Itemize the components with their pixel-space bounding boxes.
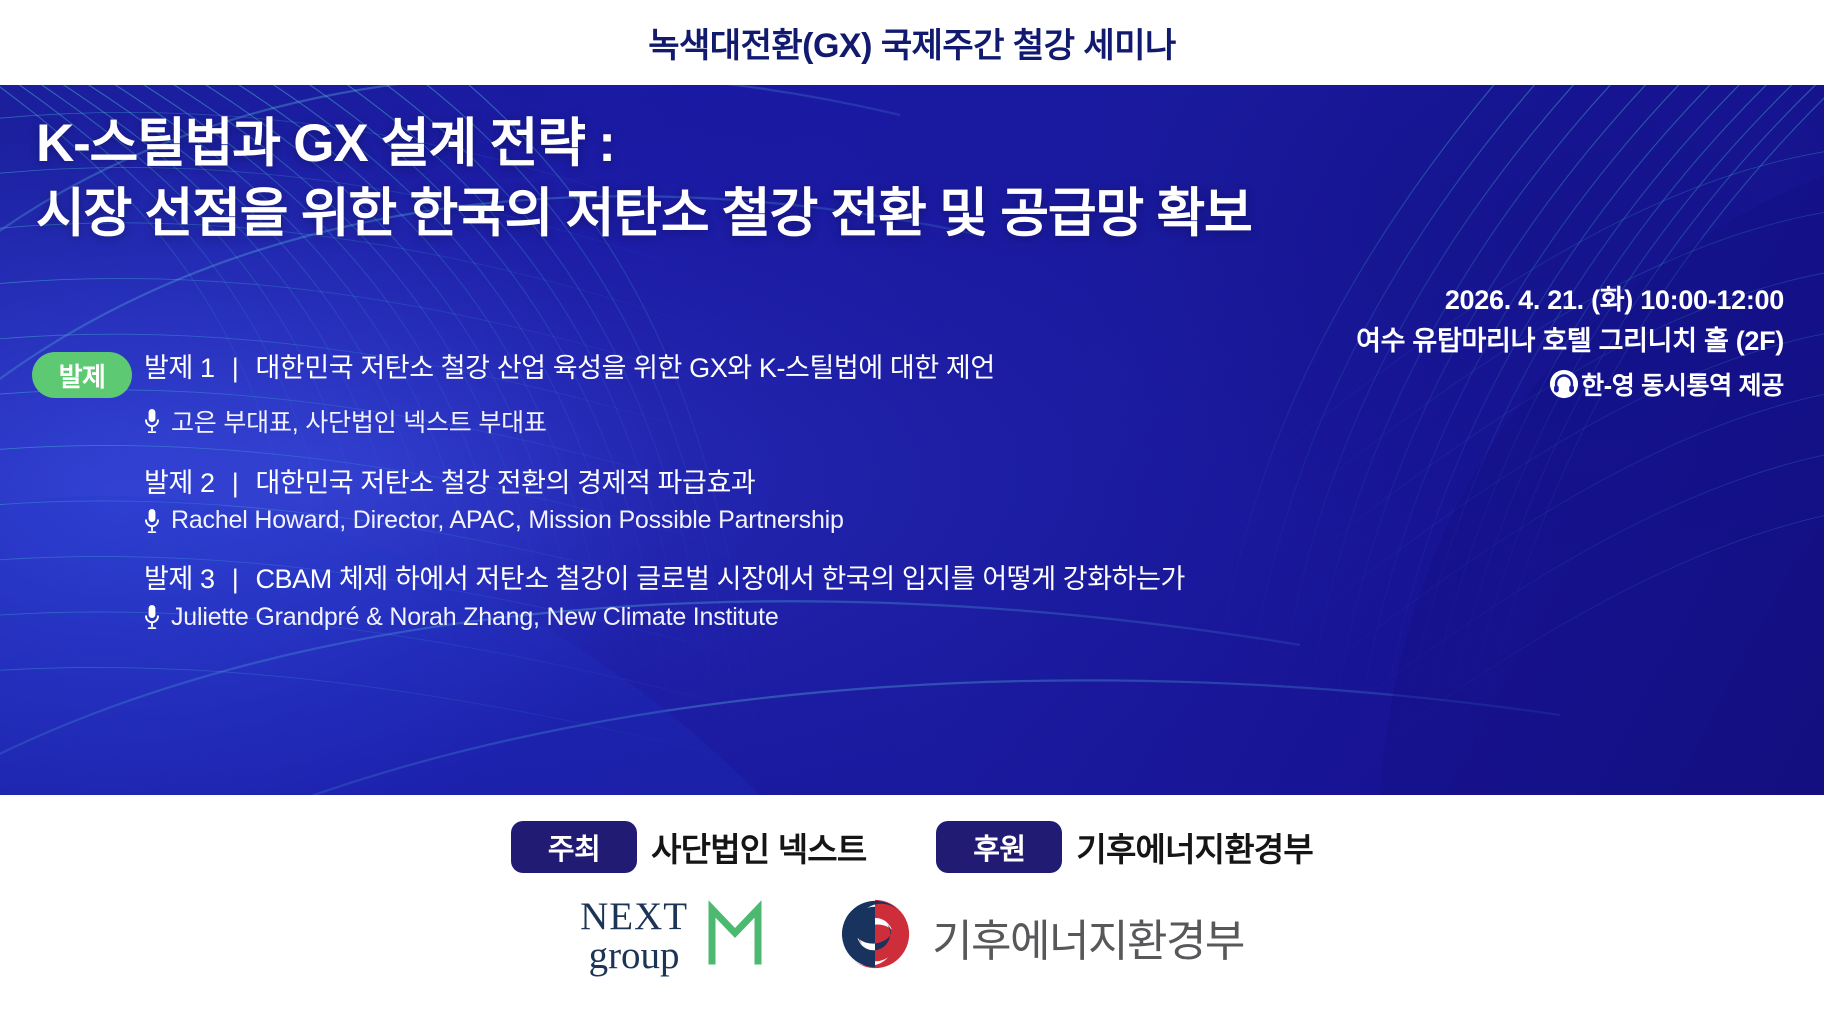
session-title-row: 발제 3 | CBAM 체제 하에서 저탄소 철강이 글로벌 시장에서 한국의 … [144, 561, 1332, 597]
microphone-icon [142, 507, 162, 535]
hero-title-block: K-스틸법과 GX 설계 전략 : 시장 선점을 위한 한국의 저탄소 철강 전… [36, 109, 1252, 250]
presentation-badge: 발제 [32, 352, 132, 398]
session-separator: | [222, 564, 249, 594]
organizer-row: 주최 사단법인 넥스트 후원 기후에너지환경부 [0, 821, 1824, 873]
next-wordmark: NEXT group [580, 898, 688, 974]
session-number: 발제 1 [144, 353, 215, 383]
speaker-name: Rachel Howard, Director, APAC, Mission P… [171, 506, 844, 535]
next-group-logo: NEXT group [580, 898, 766, 974]
sponsor-name: 기후에너지환경부 [1076, 823, 1312, 871]
session-badge-column [32, 561, 144, 563]
host-badge: 주최 [511, 821, 637, 873]
session-title: 대한민국 저탄소 철강 전환의 경제적 파급효과 [255, 468, 755, 498]
headphone-icon [1549, 369, 1579, 399]
session-speaker-row: 고은 부대표, 사단법인 넥스트 부대표 [142, 403, 1332, 439]
session-title-row: 발제 2 | 대한민국 저탄소 철강 전환의 경제적 파급효과 [144, 465, 1332, 501]
session-title: 대한민국 저탄소 철강 산업 육성을 위한 GX와 K-스틸법에 대한 제언 [255, 353, 994, 383]
hero-title-line-1: K-스틸법과 GX 설계 전략 : [36, 109, 1252, 179]
session-badge-column [32, 465, 144, 467]
session-body: 발제 3 | CBAM 체제 하에서 저탄소 철강이 글로벌 시장에서 한국의 … [144, 561, 1332, 597]
session-title: CBAM 체제 하에서 저탄소 철강이 글로벌 시장에서 한국의 입지를 어떻게… [255, 564, 1185, 594]
interpretation-note: 한-영 동시통역 제공 [1356, 366, 1784, 402]
seminar-series-title: 녹색대전환(GX) 국제주간 철강 세미나 [648, 18, 1176, 67]
session-number: 발제 3 [144, 564, 215, 594]
next-wordmark-line-1: NEXT [580, 898, 688, 936]
session-item: 발제 3 | CBAM 체제 하에서 저탄소 철강이 글로벌 시장에서 한국의 … [32, 561, 1332, 597]
government-ministry-name: 기후에너지환경부 [932, 905, 1244, 969]
speaker-name: 고은 부대표, 사단법인 넥스트 부대표 [171, 403, 547, 439]
government-logo: 기후에너지환경부 [836, 895, 1244, 978]
host-name: 사단법인 넥스트 [651, 823, 866, 871]
korea-government-taegeuk-emblem-icon [836, 895, 914, 978]
session-item: 발제 발제 1 | 대한민국 저탄소 철강 산업 육성을 위한 GX와 K-스틸… [32, 350, 1332, 398]
speaker-name: Juliette Grandpré & Norah Zhang, New Cli… [171, 603, 779, 632]
spacer [32, 535, 1332, 561]
microphone-icon [142, 603, 162, 631]
next-arrow-mark-icon [704, 899, 766, 974]
session-separator: | [222, 353, 249, 383]
session-list: 발제 발제 1 | 대한민국 저탄소 철강 산업 육성을 위한 GX와 K-스틸… [32, 350, 1332, 632]
session-number: 발제 2 [144, 468, 215, 498]
sponsor-group: 후원 기후에너지환경부 [936, 821, 1312, 873]
session-speaker-row: Rachel Howard, Director, APAC, Mission P… [142, 506, 1332, 535]
hero-title-line-2: 시장 선점을 위한 한국의 저탄소 철강 전환 및 공급망 확보 [36, 179, 1252, 249]
session-speaker-row: Juliette Grandpré & Norah Zhang, New Cli… [142, 603, 1332, 632]
microphone-icon [142, 407, 162, 435]
interpretation-label: 한-영 동시통역 제공 [1581, 366, 1784, 402]
next-wordmark-line-2: group [580, 937, 688, 975]
session-badge-column: 발제 [32, 350, 144, 398]
event-details-block: 2026. 4. 21. (화) 10:00-12:00 여수 유탑마리나 호텔… [1356, 280, 1784, 402]
sponsor-badge: 후원 [936, 821, 1062, 873]
event-poster: 녹색대전환(GX) 국제주간 철강 세미나 [0, 0, 1824, 1026]
logo-row: NEXT group 기후에너지환경부 [0, 895, 1824, 978]
session-body: 발제 2 | 대한민국 저탄소 철강 전환의 경제적 파급효과 [144, 465, 1332, 501]
footer-section: 주최 사단법인 넥스트 후원 기후에너지환경부 NEXT group [0, 795, 1824, 1026]
spacer [32, 439, 1332, 465]
session-item: 발제 2 | 대한민국 저탄소 철강 전환의 경제적 파급효과 [32, 465, 1332, 501]
hero-section: K-스틸법과 GX 설계 전략 : 시장 선점을 위한 한국의 저탄소 철강 전… [0, 85, 1824, 795]
top-header-band: 녹색대전환(GX) 국제주간 철강 세미나 [0, 0, 1824, 85]
event-datetime: 2026. 4. 21. (화) 10:00-12:00 [1356, 280, 1784, 321]
event-venue: 여수 유탑마리나 호텔 그리니치 홀 (2F) [1356, 321, 1784, 362]
session-separator: | [222, 468, 249, 498]
session-title-row: 발제 1 | 대한민국 저탄소 철강 산업 육성을 위한 GX와 K-스틸법에 … [144, 350, 1332, 386]
session-body: 발제 1 | 대한민국 저탄소 철강 산업 육성을 위한 GX와 K-스틸법에 … [144, 350, 1332, 386]
host-group: 주최 사단법인 넥스트 [511, 821, 866, 873]
